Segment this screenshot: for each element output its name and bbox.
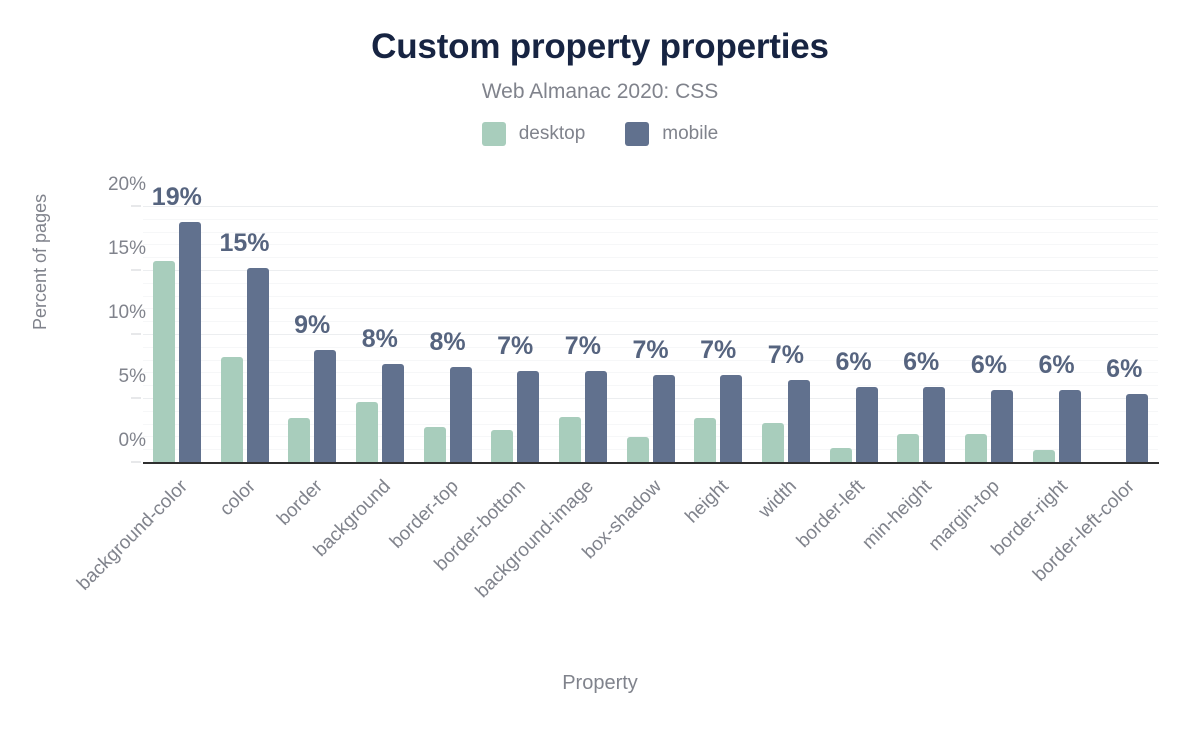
- bar-desktop-border[interactable]: [288, 418, 310, 463]
- x-axis-tick-label: width: [755, 476, 802, 523]
- bar-desktop-color[interactable]: [221, 357, 243, 463]
- x-axis-tick-background: background: [346, 470, 414, 670]
- bar-value-label: 9%: [294, 311, 330, 340]
- x-axis-tick-min-height: min-height: [887, 470, 955, 670]
- bar-group-border-left: 6%: [820, 196, 888, 463]
- bar-value-label: 7%: [700, 336, 736, 365]
- y-axis-tick-label: 0%: [66, 430, 146, 452]
- bar-mobile-box-shadow[interactable]: [653, 375, 675, 463]
- bar-group-border-right: 6%: [1023, 196, 1091, 463]
- bar-value-label: 19%: [152, 183, 202, 212]
- bar-value-label: 7%: [768, 341, 804, 370]
- bar-mobile-border-bottom[interactable]: [517, 371, 539, 463]
- bar-desktop-background[interactable]: [356, 402, 378, 463]
- bar-mobile-background-color[interactable]: [179, 222, 201, 463]
- bar-value-label: 6%: [903, 348, 939, 377]
- bar-desktop-min-height[interactable]: [897, 434, 919, 463]
- bar-desktop-background-image[interactable]: [559, 417, 581, 463]
- y-axis-tick-mark: [131, 270, 141, 271]
- bar-value-label: 6%: [1038, 351, 1074, 380]
- y-axis-tick-mark: [131, 334, 141, 335]
- bar-group-height: 7%: [684, 196, 752, 463]
- bar-desktop-border-left[interactable]: [830, 448, 852, 463]
- bar-value-label: 6%: [835, 348, 871, 377]
- bar-group-width: 7%: [752, 196, 820, 463]
- bar-group-border-left-color: 6%: [1090, 196, 1158, 463]
- bar-mobile-background-image[interactable]: [585, 371, 607, 463]
- bar-mobile-border[interactable]: [314, 350, 336, 463]
- chart-plot-area: Percent of pages 0%5%10%15%20%19%15%9%8%…: [0, 0, 1200, 742]
- bar-mobile-border-left-color[interactable]: [1126, 394, 1148, 463]
- x-axis-tick-margin-top: margin-top: [955, 470, 1023, 670]
- y-axis-tick-mark: [131, 398, 141, 399]
- x-axis-tick-labels: background-colorcolorborderbackgroundbor…: [143, 470, 1158, 670]
- bar-group-background-image: 7%: [549, 196, 617, 463]
- bar-groups: 19%15%9%8%8%7%7%7%7%7%6%6%6%6%6%: [143, 196, 1158, 463]
- bar-group-background: 8%: [346, 196, 414, 463]
- bar-value-label: 7%: [565, 332, 601, 361]
- bar-desktop-background-color[interactable]: [153, 261, 175, 463]
- bar-mobile-margin-top[interactable]: [991, 390, 1013, 463]
- x-axis-tick-border-left-color: border-left-color: [1090, 470, 1158, 670]
- bar-group-border-top: 8%: [414, 196, 482, 463]
- bar-value-label: 6%: [971, 351, 1007, 380]
- x-axis-tick-background-image: background-image: [549, 470, 617, 670]
- y-axis-tick-label: 5%: [66, 366, 146, 388]
- bar-mobile-background[interactable]: [382, 364, 404, 463]
- x-axis-tick-background-color: background-color: [143, 470, 211, 670]
- bar-mobile-min-height[interactable]: [923, 387, 945, 463]
- bar-mobile-width[interactable]: [788, 380, 810, 463]
- bar-mobile-border-left[interactable]: [856, 387, 878, 463]
- bar-mobile-border-top[interactable]: [450, 367, 472, 463]
- bar-desktop-margin-top[interactable]: [965, 434, 987, 463]
- x-axis-tick-label: background-color: [73, 476, 192, 595]
- x-axis-tick-label: color: [215, 476, 260, 521]
- bar-value-label: 7%: [632, 336, 668, 365]
- bar-group-background-color: 19%: [143, 196, 211, 463]
- bar-mobile-color[interactable]: [247, 268, 269, 463]
- bar-group-min-height: 6%: [887, 196, 955, 463]
- bar-mobile-border-right[interactable]: [1059, 390, 1081, 463]
- y-axis-tick-label: 10%: [66, 302, 146, 324]
- x-axis-tick-color: color: [211, 470, 279, 670]
- bar-value-label: 6%: [1106, 355, 1142, 384]
- y-axis-tick-label: 15%: [66, 238, 146, 260]
- bar-desktop-border-bottom[interactable]: [491, 430, 513, 463]
- bar-value-label: 8%: [429, 328, 465, 357]
- x-axis-tick-width: width: [752, 470, 820, 670]
- y-axis-tick-label: 20%: [66, 174, 146, 196]
- bar-desktop-border-top[interactable]: [424, 427, 446, 463]
- bar-mobile-height[interactable]: [720, 375, 742, 463]
- y-axis-tick-mark: [131, 206, 141, 207]
- bar-desktop-height[interactable]: [694, 418, 716, 463]
- bar-desktop-width[interactable]: [762, 423, 784, 463]
- bar-desktop-box-shadow[interactable]: [627, 437, 649, 463]
- bar-group-box-shadow: 7%: [617, 196, 685, 463]
- x-axis-line: [143, 462, 1159, 464]
- x-axis-tick-box-shadow: box-shadow: [617, 470, 685, 670]
- x-axis-tick-label: border: [273, 476, 327, 530]
- x-axis-tick-label: height: [682, 476, 734, 528]
- x-axis-tick-height: height: [684, 470, 752, 670]
- bar-value-label: 15%: [219, 229, 269, 258]
- y-axis-tick-mark: [131, 462, 141, 463]
- bar-group-border: 9%: [278, 196, 346, 463]
- bar-group-border-bottom: 7%: [481, 196, 549, 463]
- x-axis-tick-border-left: border-left: [820, 470, 888, 670]
- bar-value-label: 7%: [497, 332, 533, 361]
- bar-group-margin-top: 6%: [955, 196, 1023, 463]
- x-axis-title: Property: [0, 672, 1200, 695]
- y-axis-title: Percent of pages: [30, 194, 51, 330]
- bars-container: 0%5%10%15%20%19%15%9%8%8%7%7%7%7%7%6%6%6…: [143, 196, 1158, 463]
- x-axis-tick-border: border: [278, 470, 346, 670]
- bar-value-label: 8%: [362, 325, 398, 354]
- bar-group-color: 15%: [211, 196, 279, 463]
